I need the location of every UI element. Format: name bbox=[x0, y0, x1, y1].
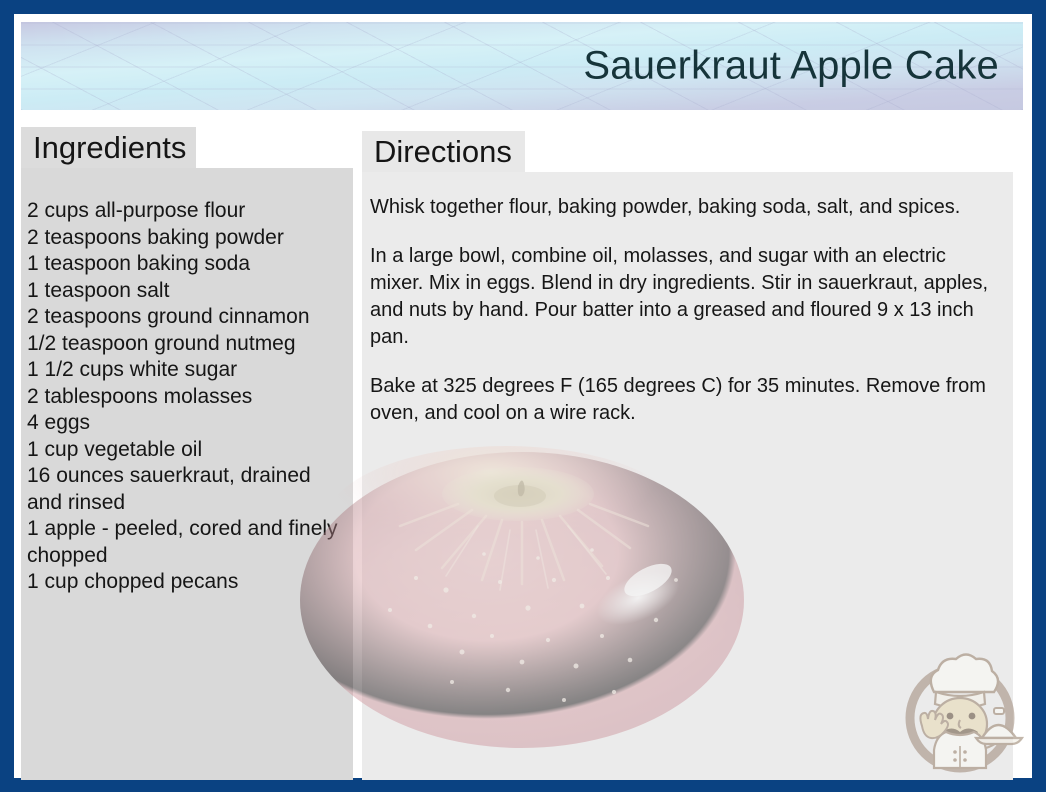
ingredient-item: 1 teaspoon baking soda bbox=[27, 251, 347, 278]
ingredient-item: 1 cup vegetable oil bbox=[27, 437, 347, 464]
recipe-title: Sauerkraut Apple Cake bbox=[583, 44, 999, 89]
card-border-left bbox=[0, 0, 14, 792]
direction-step: Bake at 325 degrees F (165 degrees C) fo… bbox=[370, 373, 997, 427]
ingredient-item: 1 1/2 cups white sugar bbox=[27, 357, 347, 384]
ingredients-heading: Ingredients bbox=[21, 130, 186, 166]
ingredient-item: 1 apple - peeled, cored and finely chopp… bbox=[27, 516, 347, 569]
card-border-bottom bbox=[0, 778, 1046, 792]
direction-step: In a large bowl, combine oil, molasses, … bbox=[370, 243, 997, 351]
ingredients-header-box: Ingredients bbox=[21, 127, 196, 168]
directions-text: Whisk together flour, baking powder, bak… bbox=[362, 172, 1013, 427]
directions-panel: Whisk together flour, baking powder, bak… bbox=[362, 172, 1013, 780]
card-border-top bbox=[0, 0, 1046, 14]
card-border-right bbox=[1032, 0, 1046, 792]
ingredient-item: 4 eggs bbox=[27, 410, 347, 437]
ingredients-panel: 2 cups all-purpose flour2 teaspoons baki… bbox=[21, 168, 353, 780]
recipe-card-page: Sauerkraut Apple Cake Ingredients 2 cups… bbox=[0, 0, 1046, 792]
ingredient-item: 2 tablespoons molasses bbox=[27, 384, 347, 411]
ingredient-item: 2 teaspoons ground cinnamon bbox=[27, 304, 347, 331]
ingredient-item: 2 cups all-purpose flour bbox=[27, 198, 347, 225]
direction-step: Whisk together flour, baking powder, bak… bbox=[370, 194, 997, 221]
ingredient-item: 16 ounces sauerkraut, drained and rinsed bbox=[27, 463, 347, 516]
ingredient-item: 2 teaspoons baking powder bbox=[27, 225, 347, 252]
ingredients-list: 2 cups all-purpose flour2 teaspoons baki… bbox=[21, 168, 353, 596]
ingredient-item: 1/2 teaspoon ground nutmeg bbox=[27, 331, 347, 358]
header-banner: Sauerkraut Apple Cake bbox=[21, 22, 1023, 110]
ingredient-item: 1 teaspoon salt bbox=[27, 278, 347, 305]
directions-header-box: Directions bbox=[362, 131, 525, 172]
directions-heading: Directions bbox=[362, 134, 512, 170]
ingredient-item: 1 cup chopped pecans bbox=[27, 569, 347, 596]
